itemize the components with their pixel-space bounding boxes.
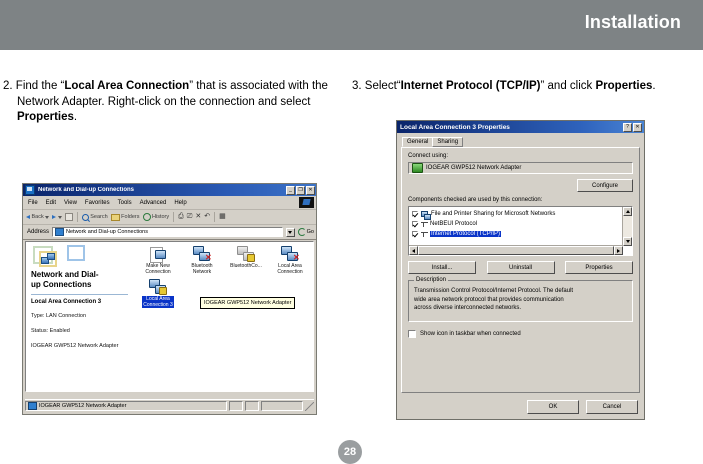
dialog-general-panel: Connect using: IOGEAR GWP512 Network Ada… [401, 147, 640, 393]
toolbar-separator-1 [77, 212, 78, 222]
toolbar-back-label: Back [32, 214, 44, 220]
step-3-line1-pre: Select“ [365, 80, 401, 92]
step-2-line3-pre: on the connection and select [164, 96, 310, 108]
network-connections-window: Network and Dial-up Connections _ ❐ ✕ Fi… [22, 183, 317, 415]
network-window-body: Network and Dial- up Connections Local A… [25, 241, 314, 392]
maximize-button[interactable]: ❐ [296, 186, 305, 195]
triangle-left-icon [412, 249, 415, 253]
adapter-tooltip: IOGEAR GWP512 Network Adapter [200, 297, 295, 309]
install-button[interactable]: Install... [408, 261, 476, 274]
toolbar-separator-2 [173, 212, 174, 222]
statusbar-adapter-icon [28, 402, 37, 410]
step-2-line1-post: ” that is [189, 80, 227, 92]
network-window-menubar: File Edit View Favorites Tools Advanced … [23, 196, 316, 210]
description-groupbox: Description Transmission Control Protoco… [408, 280, 633, 322]
protocol-icon [421, 231, 428, 238]
network-window-titlebar: Network and Dial-up Connections _ ❐ ✕ [23, 184, 316, 196]
component-properties-button[interactable]: Properties [565, 261, 633, 274]
toolbar-forward-button[interactable] [52, 215, 62, 219]
description-line-2: wide area network protocol that provides… [414, 297, 564, 303]
menu-tools[interactable]: Tools [118, 200, 132, 206]
move-to-icon[interactable]: ⎙ [178, 213, 184, 221]
triangle-up-icon [626, 210, 630, 213]
instruction-step-3: 3. Select“Internet Protocol (TCP/IP)” an… [352, 79, 682, 95]
network-banner-title: Network and Dial- up Connections [31, 270, 128, 290]
network-window-buttons: _ ❐ ✕ [286, 186, 315, 195]
page-header-bar: Installation [0, 0, 703, 50]
toolbar-folders-button[interactable]: Folders [111, 214, 140, 221]
uninstall-button[interactable]: Uninstall [487, 261, 555, 274]
selected-connection-type: Type: LAN Connection [31, 313, 128, 319]
connection-label-line1: BluetoothCo... [230, 263, 262, 269]
undo-icon[interactable]: ↶ [204, 213, 210, 221]
toolbar-search-label: Search [90, 214, 107, 220]
scroll-right-button[interactable] [614, 246, 623, 255]
toolbar-folders-label: Folders [121, 214, 139, 220]
show-icon-checkbox-label: Show icon in taskbar when connected [420, 331, 521, 337]
cancel-button[interactable]: Cancel [586, 400, 638, 414]
address-value: Network and Dial-up Connections [66, 229, 148, 235]
network-window-infopane: Network and Dial- up Connections Local A… [26, 242, 132, 391]
bluetooth-connection-icon [237, 246, 255, 262]
address-go-label: Go [307, 229, 314, 235]
network-banner-artwork [31, 245, 128, 269]
component-label: Internet Protocol (TCP/IP) [430, 231, 501, 237]
page-header-title: Installation [585, 12, 681, 33]
selected-connection-status: Status: Enabled [31, 328, 128, 334]
step-3-line2-bold: Properties [596, 80, 653, 92]
local-area-connection-icon: ✕ [281, 246, 299, 262]
address-dropdown-button[interactable] [286, 228, 295, 237]
forward-dropdown-icon[interactable] [58, 216, 62, 219]
component-row-file-printer-sharing[interactable]: File and Printer Sharing for Microsoft N… [411, 209, 632, 219]
scroll-up-button[interactable] [623, 207, 632, 216]
components-list-rows: File and Printer Sharing for Microsoft N… [409, 207, 632, 239]
menu-advanced[interactable]: Advanced [140, 200, 167, 206]
chevron-down-icon [288, 231, 292, 234]
menu-help[interactable]: Help [174, 200, 186, 206]
connection-label-line2: Network [193, 269, 211, 275]
triangle-down-icon [626, 240, 630, 243]
toolbar-separator-3 [214, 212, 215, 222]
configure-button-row: Configure [408, 179, 633, 192]
components-vertical-scrollbar[interactable] [622, 207, 632, 246]
copy-to-icon[interactable]: ⎚ [187, 213, 193, 221]
configure-button[interactable]: Configure [577, 179, 633, 192]
address-label: Address [27, 229, 49, 235]
component-label: File and Printer Sharing for Microsoft N… [431, 211, 555, 217]
show-icon-checkbox-row[interactable]: Show icon in taskbar when connected [408, 330, 633, 338]
dialog-footer-buttons: OK Cancel [527, 400, 638, 414]
description-groupbox-title: Description [414, 277, 448, 283]
close-button[interactable]: ✕ [306, 186, 315, 195]
component-checkbox[interactable] [412, 211, 418, 217]
address-folder-icon [55, 228, 64, 236]
components-horizontal-scrollbar[interactable] [409, 245, 623, 255]
component-row-tcpip[interactable]: Internet Protocol (TCP/IP) [411, 229, 632, 239]
back-dropdown-icon[interactable] [45, 216, 49, 219]
search-icon [82, 214, 89, 221]
delete-icon[interactable]: ✕ [195, 213, 201, 221]
back-arrow-icon [26, 215, 30, 219]
connect-using-label: Connect using: [408, 153, 633, 159]
network-adapter-icon [412, 163, 423, 173]
connection-properties-dialog: Local Area Connection 3 Properties ? ✕ G… [396, 120, 645, 420]
address-input[interactable]: Network and Dial-up Connections [52, 227, 283, 237]
step-2-line3-bold: Properties [17, 111, 74, 123]
network-window-icon [25, 185, 35, 195]
menu-favorites[interactable]: Favorites [85, 200, 110, 206]
tab-general[interactable]: General [402, 137, 433, 147]
component-checkbox[interactable] [412, 231, 418, 237]
show-icon-checkbox[interactable] [408, 330, 416, 338]
step-2-number: 2. [3, 80, 13, 92]
connection-label-selected: Local Area Connection 3 [142, 296, 173, 308]
description-line-3: across diverse interconnected networks. [414, 305, 521, 311]
step-2-line1-bold: Local Area Connection [64, 80, 189, 92]
views-icon[interactable]: ▦ [219, 213, 226, 221]
statusbar-main-text: IOGEAR GWP512 Network Adapter [25, 401, 227, 411]
history-clock-icon [143, 213, 151, 221]
connection-label-line2: Connection 3 [143, 302, 172, 308]
dialog-title-buttons: ? ✕ [623, 123, 642, 132]
adapter-readonly-field: IOGEAR GWP512 Network Adapter [408, 162, 633, 174]
network-window-title: Network and Dial-up Connections [38, 187, 286, 193]
go-icon [298, 228, 306, 236]
description-line-1: Transmission Control Protocol/Internet P… [414, 288, 573, 294]
toolbar-history-button[interactable]: History [143, 213, 170, 221]
banner-square-blue [67, 245, 85, 261]
menu-file[interactable]: File [28, 200, 38, 206]
scroll-left-button[interactable] [409, 246, 418, 255]
toolbar-search-button[interactable]: Search [82, 214, 108, 221]
tab-sharing[interactable]: Sharing [432, 137, 463, 147]
instruction-step-2: 2. Find the “Local Area Connection” that… [3, 79, 333, 126]
network-window-addressbar: Address Network and Dial-up Connections … [23, 225, 316, 240]
connections-icon-pane: Make New Connection ✕ Bluetooth Network [132, 242, 314, 391]
triangle-right-icon [617, 249, 620, 253]
page-number-badge: 28 [338, 440, 362, 464]
adapter-name-value: IOGEAR GWP512 Network Adapter [426, 165, 521, 171]
selected-connection-adapter: IOGEAR GWP512 Network Adapter [31, 343, 128, 349]
menu-edit[interactable]: Edit [46, 200, 56, 206]
infopane-divider [31, 294, 128, 295]
step-3-line2-post: . [652, 80, 655, 92]
share-icon [421, 211, 429, 218]
toolbar-back-button[interactable]: Back [26, 214, 49, 220]
address-go-button[interactable]: Go [298, 228, 314, 236]
components-listbox[interactable]: File and Printer Sharing for Microsoft N… [408, 206, 633, 256]
network-window-statusbar: IOGEAR GWP512 Network Adapter [25, 399, 314, 412]
connection-item-local-area-connection-3[interactable]: Local Area Connection 3 [136, 279, 180, 308]
statusbar-cell-4 [261, 401, 303, 411]
dialog-title: Local Area Connection 3 Properties [400, 124, 623, 131]
scroll-down-button[interactable] [623, 237, 632, 246]
make-new-connection-icon [149, 246, 167, 262]
description-text: Transmission Control Protocol/Internet P… [414, 287, 627, 313]
help-button[interactable]: ? [623, 123, 632, 132]
component-label: NetBEUI Protocol [430, 221, 477, 227]
network-icon [41, 253, 54, 264]
components-label: Components checked are used by this conn… [408, 197, 633, 203]
windows-logo-icon [299, 197, 314, 208]
step-3-line1-post: ” and click [541, 80, 593, 92]
statusbar-cell-3 [245, 401, 259, 411]
component-action-buttons: Install... Uninstall Properties [408, 261, 633, 274]
connection-item-bluetooth-co[interactable]: BluetoothCo... [224, 246, 268, 275]
step-3-line1-bold: Internet Protocol (TCP/IP) [401, 80, 541, 92]
statusbar-label: IOGEAR GWP512 Network Adapter [39, 403, 126, 409]
statusbar-cell-2 [229, 401, 243, 411]
toolbar-history-label: History [152, 214, 169, 220]
resize-grip-icon[interactable] [305, 402, 314, 411]
component-row-netbeui[interactable]: NetBEUI Protocol [411, 219, 632, 229]
toolbar-up-icon[interactable] [65, 213, 73, 221]
forward-arrow-icon [52, 215, 56, 219]
step-2-line1-pre: Find the “ [16, 80, 65, 92]
dialog-tabstrip: General Sharing [397, 133, 644, 147]
connection-label-line2: Connection [277, 269, 302, 275]
minimize-button[interactable]: _ [286, 186, 295, 195]
step-2-line3-post: . [74, 111, 77, 123]
network-window-toolbar: Back Search Folders History ⎙ ⎚ ✕ ↶ ▦ [23, 210, 316, 225]
ok-button[interactable]: OK [527, 400, 579, 414]
local-area-connection-3-icon [149, 279, 167, 295]
selected-connection-name: Local Area Connection 3 [31, 299, 128, 305]
bluetooth-network-icon: ✕ [193, 246, 211, 262]
connection-item-bluetooth-network[interactable]: ✕ Bluetooth Network [180, 246, 224, 275]
protocol-icon [421, 221, 428, 228]
network-banner-title-line2: up Connections [31, 280, 91, 289]
connection-label-line2: Connection [145, 269, 170, 275]
folder-icon [111, 214, 120, 221]
step-3-number: 3. [352, 80, 362, 92]
connection-item-local-area-connection[interactable]: ✕ Local Area Connection [268, 246, 312, 275]
dialog-titlebar: Local Area Connection 3 Properties ? ✕ [397, 121, 644, 133]
close-icon[interactable]: ✕ [633, 123, 642, 132]
hscroll-thumb[interactable] [418, 246, 614, 255]
menu-view[interactable]: View [64, 200, 77, 206]
connection-item-make-new[interactable]: Make New Connection [136, 246, 180, 275]
component-checkbox[interactable] [412, 221, 418, 227]
network-banner-title-line1: Network and Dial- [31, 270, 99, 279]
